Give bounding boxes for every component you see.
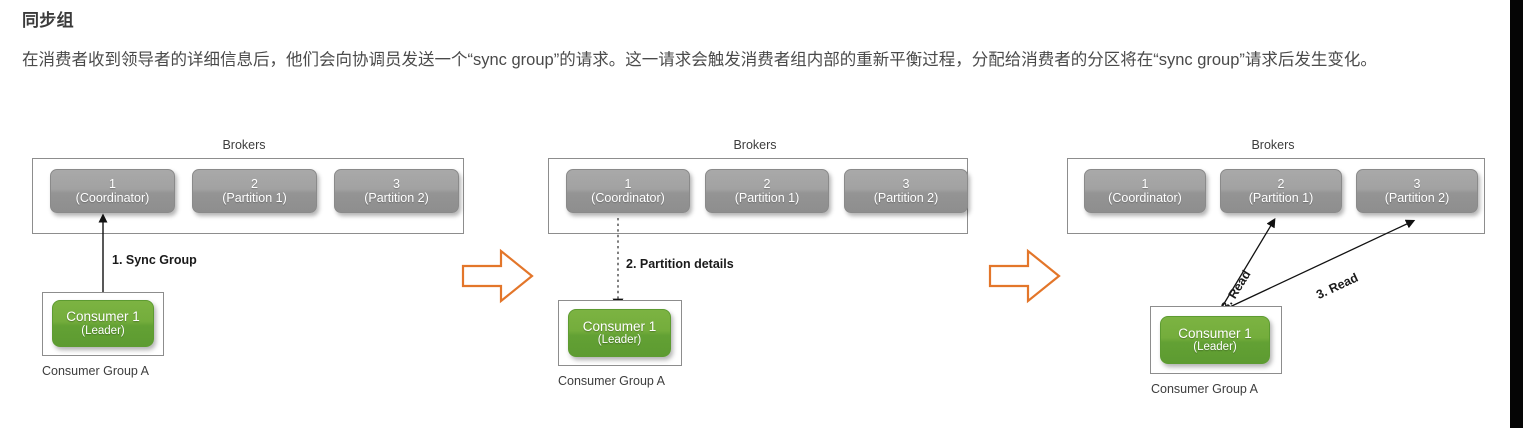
right-edge-bar [1510, 0, 1523, 428]
broker-number: 2 [251, 177, 258, 191]
consumer-group-label: Consumer Group A [42, 364, 149, 378]
broker-number: 3 [1414, 177, 1421, 191]
consumer-role: (Leader) [81, 325, 124, 338]
broker-number: 2 [1278, 177, 1285, 191]
broker-number: 3 [393, 177, 400, 191]
brokers-label: Brokers [174, 138, 314, 152]
flow-arrow-1 [461, 248, 535, 304]
broker-number: 1 [1142, 177, 1149, 191]
consumer-name: Consumer 1 [1178, 326, 1252, 342]
broker-number: 1 [109, 177, 116, 191]
consumer-group-label: Consumer Group A [558, 374, 665, 388]
broker-role: (Partition 2) [1385, 191, 1450, 205]
brokers-label: Brokers [685, 138, 825, 152]
consumer-role: (Leader) [1193, 341, 1236, 354]
broker-role: (Coordinator) [1108, 191, 1182, 205]
consumer-name: Consumer 1 [583, 319, 657, 335]
flow-arrow-2 [988, 248, 1062, 304]
broker-node-2: 2 (Partition 1) [705, 169, 829, 213]
consumer-name: Consumer 1 [66, 309, 140, 325]
broker-node-1: 1 (Coordinator) [50, 169, 175, 213]
step-label-partition-details: 2. Partition details [626, 257, 734, 271]
broker-role: (Partition 1) [222, 191, 287, 205]
page-title: 同步组 [22, 8, 1472, 34]
consumer-group-label: Consumer Group A [1151, 382, 1258, 396]
diagram-panel-read: Brokers 1 (Coordinator) 2 (Partition 1) … [1055, 136, 1495, 406]
consumer-node-leader: Consumer 1 (Leader) [1160, 316, 1270, 364]
diagram-panel-sync-group: Brokers 1 (Coordinator) 2 (Partition 1) … [24, 136, 469, 406]
broker-node-1: 1 (Coordinator) [1084, 169, 1206, 213]
article-text-block: 同步组 在消费者收到领导者的详细信息后，他们会向协调员发送一个“sync gro… [22, 8, 1472, 76]
broker-node-2: 2 (Partition 1) [192, 169, 317, 213]
broker-role: (Partition 2) [364, 191, 429, 205]
consumer-node-leader: Consumer 1 (Leader) [568, 309, 671, 357]
broker-role: (Partition 1) [1249, 191, 1314, 205]
broker-role: (Coordinator) [591, 191, 665, 205]
article-paragraph: 在消费者收到领导者的详细信息后，他们会向协调员发送一个“sync group”的… [22, 44, 1447, 76]
brokers-label: Brokers [1203, 138, 1343, 152]
right-arrow-icon [461, 248, 535, 304]
read-arrow-partition-2 [1219, 222, 1411, 312]
broker-node-3: 3 (Partition 2) [844, 169, 968, 213]
step-label-sync-group: 1. Sync Group [112, 253, 197, 267]
broker-node-2: 2 (Partition 1) [1220, 169, 1342, 213]
right-arrow-icon [988, 248, 1062, 304]
broker-node-3: 3 (Partition 2) [334, 169, 459, 213]
broker-role: (Coordinator) [76, 191, 150, 205]
broker-node-1: 1 (Coordinator) [566, 169, 690, 213]
broker-number: 1 [625, 177, 632, 191]
kafka-sync-group-diagram: Brokers 1 (Coordinator) 2 (Partition 1) … [0, 136, 1523, 414]
step-label-read-2: 3. Read [1314, 271, 1360, 302]
broker-number: 2 [764, 177, 771, 191]
broker-role: (Partition 2) [874, 191, 939, 205]
consumer-role: (Leader) [598, 334, 641, 347]
broker-role: (Partition 1) [735, 191, 800, 205]
consumer-node-leader: Consumer 1 (Leader) [52, 300, 154, 347]
broker-node-3: 3 (Partition 2) [1356, 169, 1478, 213]
broker-number: 3 [903, 177, 910, 191]
diagram-panel-partition-details: Brokers 1 (Coordinator) 2 (Partition 1) … [540, 136, 985, 406]
